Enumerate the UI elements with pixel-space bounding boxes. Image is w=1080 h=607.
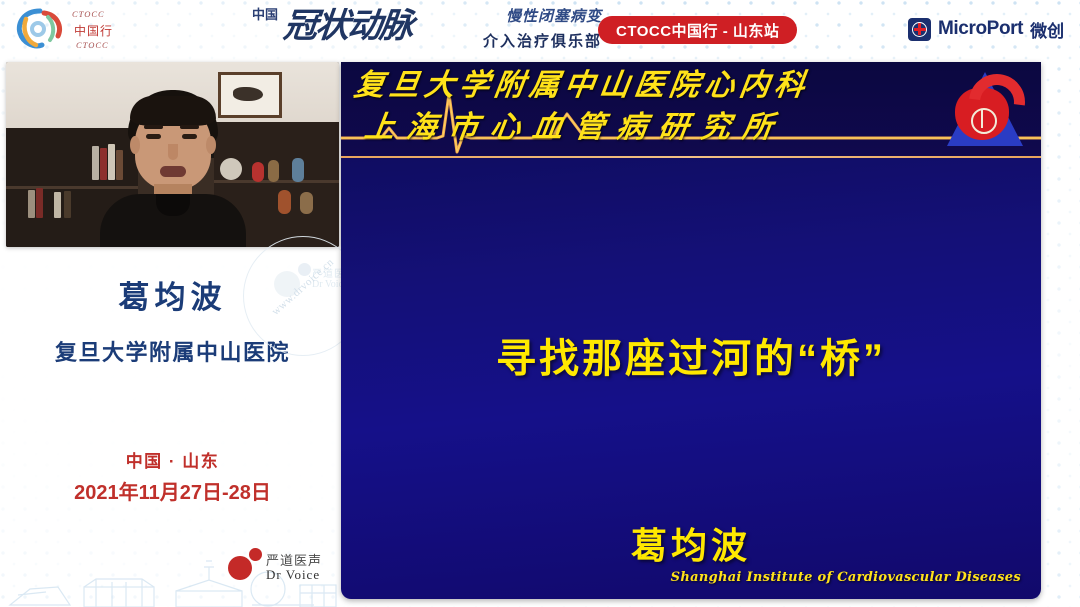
event-banner-title: 中国 冠状动脉 慢性闭塞病变 介入治疗俱乐部 xyxy=(252,2,602,54)
ctocc-logo-bottom-text: CTOCC xyxy=(76,40,109,50)
slide-author: 葛均波 xyxy=(341,517,1041,569)
event-station-badge: CTOCC中国行 - 山东站 xyxy=(598,16,797,44)
banner-subline-2: 介入治疗俱乐部 xyxy=(483,30,602,51)
event-date: 2021年11月27日-28日 xyxy=(0,476,345,505)
app-window: CTOCC 中国行 CTOCC 中国 冠状动脉 慢性闭塞病变 介入治疗俱乐部 C… xyxy=(0,0,1080,607)
drvoice-circle-large-icon xyxy=(228,556,252,580)
banner-headline: 冠状动脉 xyxy=(281,0,414,47)
ctocc-logo-text: CTOCC 中国行 CTOCC xyxy=(60,7,132,51)
slide-header-line-2: 上海市心血管病研究所 xyxy=(362,102,788,146)
drvoice-logo: 严道医声 Dr Voice xyxy=(224,546,344,586)
slide-title: 寻找那座过河的“桥” xyxy=(341,326,1041,384)
microport-sponsor-logo: MicroPort 微创 xyxy=(908,16,1064,42)
banner-prefix: 中国 xyxy=(252,4,278,23)
banner-subline-1: 慢性闭塞病变 xyxy=(506,5,602,26)
slide-header-separator xyxy=(341,156,1041,158)
microport-name-cn: 微创 xyxy=(1030,17,1064,42)
slide-header-line-1: 复旦大学附属中山医院心内科 xyxy=(352,62,813,104)
ctocc-logo-cn-text: 中国行 xyxy=(74,22,113,39)
slide-footer-institute: Shanghai Institute of Cardiovascular Dis… xyxy=(671,570,1021,585)
microport-name: MicroPort xyxy=(938,18,1023,40)
drvoice-circle-small-icon xyxy=(249,548,262,561)
slide-header-band: 复旦大学附属中山医院心内科 上海市心血管病研究所 xyxy=(341,62,1041,158)
speaker-figure xyxy=(112,90,234,247)
event-location: 中国 · 山东 xyxy=(0,447,345,472)
ctocc-logo-top-text: CTOCC xyxy=(72,9,105,19)
drvoice-brand-en: Dr Voice xyxy=(266,567,320,583)
microport-mark-icon xyxy=(908,18,931,41)
hospital-heart-logo-icon xyxy=(939,64,1031,156)
presentation-slide[interactable]: 复旦大学附属中山医院心内科 上海市心血管病研究所 寻找那座过河的“桥” 葛均波 … xyxy=(341,62,1041,599)
ctocc-logo: CTOCC 中国行 CTOCC xyxy=(14,3,130,55)
page-header: CTOCC 中国行 CTOCC 中国 冠状动脉 慢性闭塞病变 介入治疗俱乐部 C… xyxy=(0,0,1080,56)
speaker-video-feed[interactable] xyxy=(6,62,339,247)
